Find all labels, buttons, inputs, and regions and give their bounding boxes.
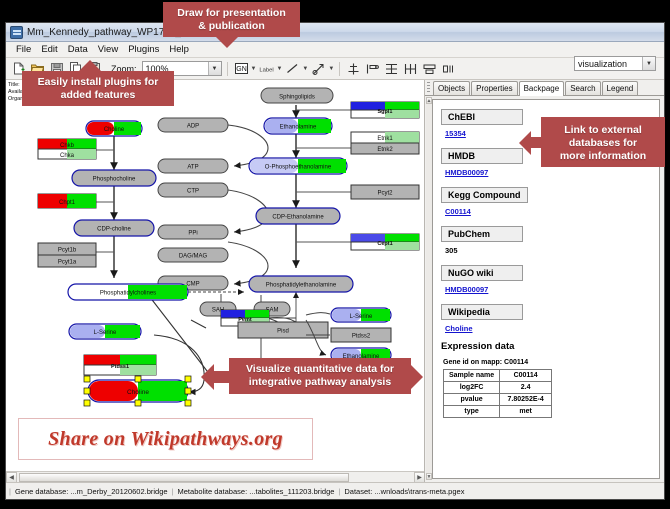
node-phosphatidylcholines: Phosphatidylcholines [68,284,188,300]
svg-text:Pcyt1a: Pcyt1a [58,260,77,266]
svg-text:O-Phosphoethanolamine: O-Phosphoethanolamine [265,165,332,171]
status-dataset: Dataset: ...wnloads\trans-meta.pgex [344,487,464,496]
menu-item-plugins[interactable]: Plugins [123,42,164,57]
backpage-header-pubchem: PubChem [441,226,523,242]
backpage-header-hmdb: HMDB [441,148,523,164]
svg-text:Ptdss2: Ptdss2 [352,334,371,340]
node-chkb: Chkb [38,139,96,149]
svg-text:Phosphatidylcholines: Phosphatidylcholines [100,291,156,297]
label-icon[interactable]: Label [258,60,275,77]
hscroll-thumb[interactable] [19,473,349,482]
chevron-down-icon[interactable]: ▼ [642,57,655,70]
table-cell-value: C00114 [500,370,552,382]
chevron-down-icon[interactable]: ▼ [328,66,334,72]
svg-text:Ethanolamine: Ethanolamine [280,125,317,131]
menu-item-help[interactable]: Help [164,42,194,57]
chevron-down-icon[interactable]: ▼ [302,66,308,72]
svg-text:Phosphocholine: Phosphocholine [93,177,136,183]
svg-text:Label: Label [260,67,274,73]
tab-objects[interactable]: Objects [433,81,470,95]
node-choline-top: Choline [86,121,142,136]
node-adp: ADP [158,118,228,132]
table-cell-key: Sample name [444,370,500,382]
callout-visualize-arrow-right-icon [410,364,423,390]
svg-text:Phosphatidylethanolamine: Phosphatidylethanolamine [266,283,337,289]
svg-text:Chkb: Chkb [60,143,75,149]
callout-visualize: Visualize quantitative data for integrat… [229,358,411,394]
chevron-down-icon[interactable]: ▼ [251,66,257,72]
node-pcyt1a: Pcyt1a [38,255,96,267]
node-chka: Chka [38,149,96,159]
svg-text:Pisd: Pisd [277,329,289,335]
panel-grip[interactable] [427,82,430,94]
screenshot-root: Mm_Kennedy_pathway_WP1771_45176.gpml Fil… [0,0,670,509]
node-atp: ATP [158,159,228,173]
expression-data-title: Expression data [441,341,659,352]
same-width-icon[interactable] [421,60,438,77]
interaction-tool[interactable]: ▼ [310,60,334,77]
svg-text:CDP-Ethanolamine: CDP-Ethanolamine [272,215,324,221]
menu-item-edit[interactable]: Edit [36,42,62,57]
node-cdp-ethanolamine: CDP-Ethanolamine [256,208,340,224]
callout-visualize-line1: Visualize quantitative data for [237,363,403,376]
status-metabolite-database: Metabolite database: ...tabolites_111203… [178,487,335,496]
node-cept1: Cept1 [351,234,419,250]
callout-draw: Draw for presentation & publication [163,2,300,37]
tab-legend[interactable]: Legend [602,81,639,95]
callout-visualize-line2: integrative pathway analysis [237,376,403,389]
align-top-icon[interactable] [345,60,362,77]
backpage-header-kegg: Kegg Compound [441,187,528,203]
svg-text:Pcyt2: Pcyt2 [377,191,393,197]
status-separator: | [172,487,174,496]
backpage-link-nugo[interactable]: HMDB00097 [445,285,659,294]
table-cell-value: 7.80252E-4 [500,394,552,406]
callout-draw-line1: Draw for presentation [171,7,292,20]
svg-text:Chka: Chka [60,153,75,159]
scroll-right-icon[interactable]: ▶ [414,472,425,483]
node-o-phosphoethanolamine: O-Phosphoethanolamine [249,158,347,174]
pathway-diagram[interactable]: Sphingolipids Sgpl1 [6,80,425,472]
same-height-icon[interactable] [440,60,457,77]
svg-text:ATP: ATP [187,165,198,171]
svg-text:Sgpl1: Sgpl1 [378,109,393,115]
node-l-serine-right: L-Serine [331,308,391,322]
backpage-link-wikipedia[interactable]: Choline [445,324,659,333]
chevron-down-icon[interactable]: ▼ [276,66,282,72]
node-cdp-choline: CDP-choline [74,220,154,236]
side-panel-tabs: Objects Properties Backpage Search Legen… [425,80,664,96]
gene-id-on-mapp: Gene id on mapp: C00114 [443,359,659,366]
svg-text:Sphingolipids: Sphingolipids [279,95,315,101]
svg-text:Ptdss1: Ptdss1 [111,364,129,370]
backpage-header-wikipedia: Wikipedia [441,304,523,320]
anchor-icon[interactable] [310,60,327,77]
align-left-icon[interactable] [364,60,381,77]
svg-text:CMP: CMP [186,282,199,288]
svg-text:Chpt1: Chpt1 [59,200,76,206]
node-etnk2: Etnk2 [351,143,419,154]
table-cell-value: met [500,406,552,418]
app-icon [10,26,23,39]
node-ethanolamine-top: Ethanolamine [264,118,332,134]
callout-plugins: Easily install plugins for added feature… [22,71,174,106]
callout-plugins-line2: added features [30,89,166,102]
callout-share-text: Share on Wikipathways.org [48,428,283,451]
node-phosphocholine: Phosphocholine [72,170,156,186]
node-ctp: CTP [158,183,228,197]
node-l-serine-left: L-Serine [69,324,141,339]
visualization-combo[interactable]: visualization ▼ [574,56,656,71]
table-cell-key: log2FC [444,382,500,394]
callout-draw-line2: & publication [171,20,292,33]
table-row: pvalue 7.80252E-4 [444,394,552,406]
node-choline-selected: Choline [84,376,191,406]
svg-text:Choline: Choline [104,127,125,133]
datanode-tool[interactable]: GN ▼ [233,60,257,77]
line-icon[interactable] [284,60,301,77]
toolbar-separator [339,62,340,76]
datanode-icon[interactable]: GN [233,60,250,77]
svg-text:ADP: ADP [187,124,199,130]
status-separator: | [9,487,11,496]
node-ptdss2: Ptdss2 [331,328,391,342]
chevron-down-icon[interactable]: ▼ [208,62,221,75]
line-tool[interactable]: ▼ [284,60,308,77]
node-phosphatidylethanolamine: Phosphatidylethanolamine [249,276,353,292]
tab-backpage[interactable]: Backpage [519,81,565,96]
toolbar-separator [227,62,228,76]
node-chpt1: Chpt1 [38,194,96,208]
scroll-left-icon[interactable]: ◀ [6,472,17,483]
node-dag-mag [158,235,228,249]
callout-links: Link to external databases for more info… [541,117,665,167]
callout-share: Share on Wikipathways.org [18,418,313,460]
status-separator: | [338,487,340,496]
table-row: log2FC 2.4 [444,382,552,394]
node-pcyt2: Pcyt2 [351,185,419,199]
backpage-header-chebi: ChEBI [441,109,523,125]
node-dagmag: DAG/MAG [158,248,228,262]
backpage-header-nugo: NuGO wiki [441,265,523,281]
svg-text:Pcyt1b: Pcyt1b [58,248,77,254]
svg-text:GN: GN [236,66,247,73]
backpage-link-hmdb[interactable]: HMDB00097 [445,168,659,177]
menu-item-file[interactable]: File [11,42,36,57]
node-ptdss1: Ptdss1 [84,355,156,375]
table-cell-key: pvalue [444,394,500,406]
callout-plugins-line1: Easily install plugins for [30,76,166,89]
visualization-value: visualization [578,59,642,69]
canvas-hscrollbar[interactable]: ◀ ▶ [6,471,425,482]
node-pcyt1b: Pcyt1b [38,243,96,255]
table-cell-value: 2.4 [500,382,552,394]
tab-properties[interactable]: Properties [471,81,517,95]
svg-text:CDP-choline: CDP-choline [97,227,131,233]
svg-text:L-Serine: L-Serine [94,330,117,336]
callout-links-line3: more information [549,150,657,163]
table-cell-key: type [444,406,500,418]
svg-text:Etnk1: Etnk1 [377,136,393,142]
status-gene-database: Gene database: ...m_Derby_20120602.bridg… [15,487,168,496]
menu-item-view[interactable]: View [93,42,123,57]
expression-table: Sample name C00114 log2FC 2.4 pvalue 7.8… [443,369,552,418]
label-tool[interactable]: Label ▼ [258,60,282,77]
node-sgpl1: Sgpl1 [351,102,419,118]
table-row: Sample name C00114 [444,370,552,382]
svg-text:Choline: Choline [127,389,149,396]
svg-text:Cept1: Cept1 [377,241,392,247]
backpage-value-pubchem: 305 [445,246,659,255]
svg-text:L-Serine: L-Serine [350,314,373,320]
svg-text:Etnk2: Etnk2 [377,147,393,153]
callout-links-line2: databases for [549,137,657,150]
callout-links-line1: Link to external [549,124,657,137]
menu-item-data[interactable]: Data [63,42,93,57]
distribute-horizontal-icon[interactable] [402,60,419,77]
table-row: type met [444,406,552,418]
svg-text:DAG/MAG: DAG/MAG [179,254,208,260]
svg-text:CTP: CTP [187,189,199,195]
distribute-vertical-icon[interactable] [383,60,400,77]
status-bar: | Gene database: ...m_Derby_20120602.bri… [6,482,664,499]
window-titlebar: Mm_Kennedy_pathway_WP1771_45176.gpml [6,23,664,42]
menu-bar: File Edit Data View Plugins Help [6,42,664,58]
node-sphingolipids: Sphingolipids [261,88,333,103]
tab-search[interactable]: Search [565,81,600,95]
node-etnk1: Etnk1 [351,132,419,143]
backpage-link-kegg[interactable]: C00114 [445,207,659,216]
node-pisd: Pisd [238,322,328,338]
